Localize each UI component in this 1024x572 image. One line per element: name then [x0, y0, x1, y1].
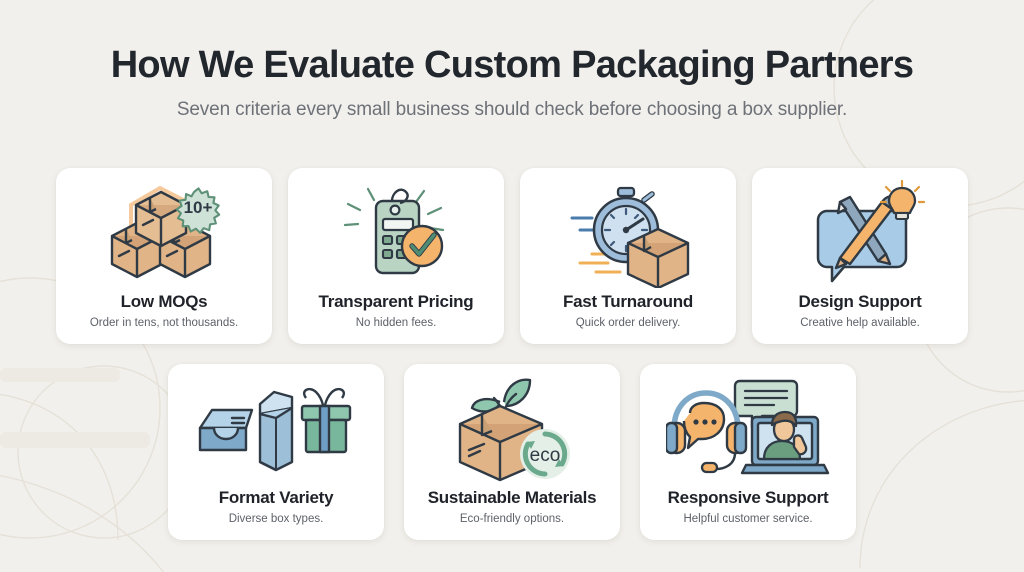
- page-title: How We Evaluate Custom Packaging Partner…: [0, 44, 1024, 87]
- box-plant-eco-recycle-icon: eco: [442, 374, 582, 486]
- infographic-page: How We Evaluate Custom Packaging Partner…: [0, 0, 1024, 572]
- card-title: Responsive Support: [640, 488, 856, 508]
- card-low-moqs[interactable]: 10+ Low MOQs Order in tens, not thousand…: [56, 168, 272, 344]
- card-title: Format Variety: [168, 488, 384, 508]
- card-description: Creative help available.: [752, 317, 968, 329]
- eco-badge-label: eco: [530, 445, 561, 466]
- headset-chat-laptop-agent-icon: [666, 374, 830, 486]
- tray-carton-giftbox-icon: [196, 374, 356, 486]
- card-description: No hidden fees.: [288, 317, 504, 329]
- card-title: Fast Turnaround: [520, 292, 736, 312]
- card-responsive-support[interactable]: Responsive Support Helpful customer serv…: [640, 364, 856, 540]
- stacked-boxes-icon: 10+: [98, 178, 230, 290]
- card-sustainable-materials[interactable]: eco Sustainable Materials Eco-friendly o…: [404, 364, 620, 540]
- page-subtitle: Seven criteria every small business shou…: [0, 99, 1024, 121]
- card-format-variety[interactable]: Format Variety Diverse box types.: [168, 364, 384, 540]
- card-title: Transparent Pricing: [288, 292, 504, 312]
- card-description: Eco-friendly options.: [404, 513, 620, 525]
- card-description: Diverse box types.: [168, 513, 384, 525]
- card-description: Helpful customer service.: [640, 513, 856, 525]
- card-description: Quick order delivery.: [520, 317, 736, 329]
- card-fast-turnaround[interactable]: Fast Turnaround Quick order delivery.: [520, 168, 736, 344]
- page-header: How We Evaluate Custom Packaging Partner…: [0, 0, 1024, 121]
- card-title: Sustainable Materials: [404, 488, 620, 508]
- speech-bubble-pencil-brush-bulb-icon: [794, 178, 926, 290]
- card-title: Design Support: [752, 292, 968, 312]
- card-transparent-pricing[interactable]: Transparent Pricing No hidden fees.: [288, 168, 504, 344]
- card-title: Low MOQs: [56, 292, 272, 312]
- price-tag-calculator-check-icon: [330, 178, 462, 290]
- badge-count: 10+: [184, 198, 213, 217]
- stopwatch-box-icon: [562, 178, 694, 290]
- card-design-support[interactable]: Design Support Creative help available.: [752, 168, 968, 344]
- card-description: Order in tens, not thousands.: [56, 317, 272, 329]
